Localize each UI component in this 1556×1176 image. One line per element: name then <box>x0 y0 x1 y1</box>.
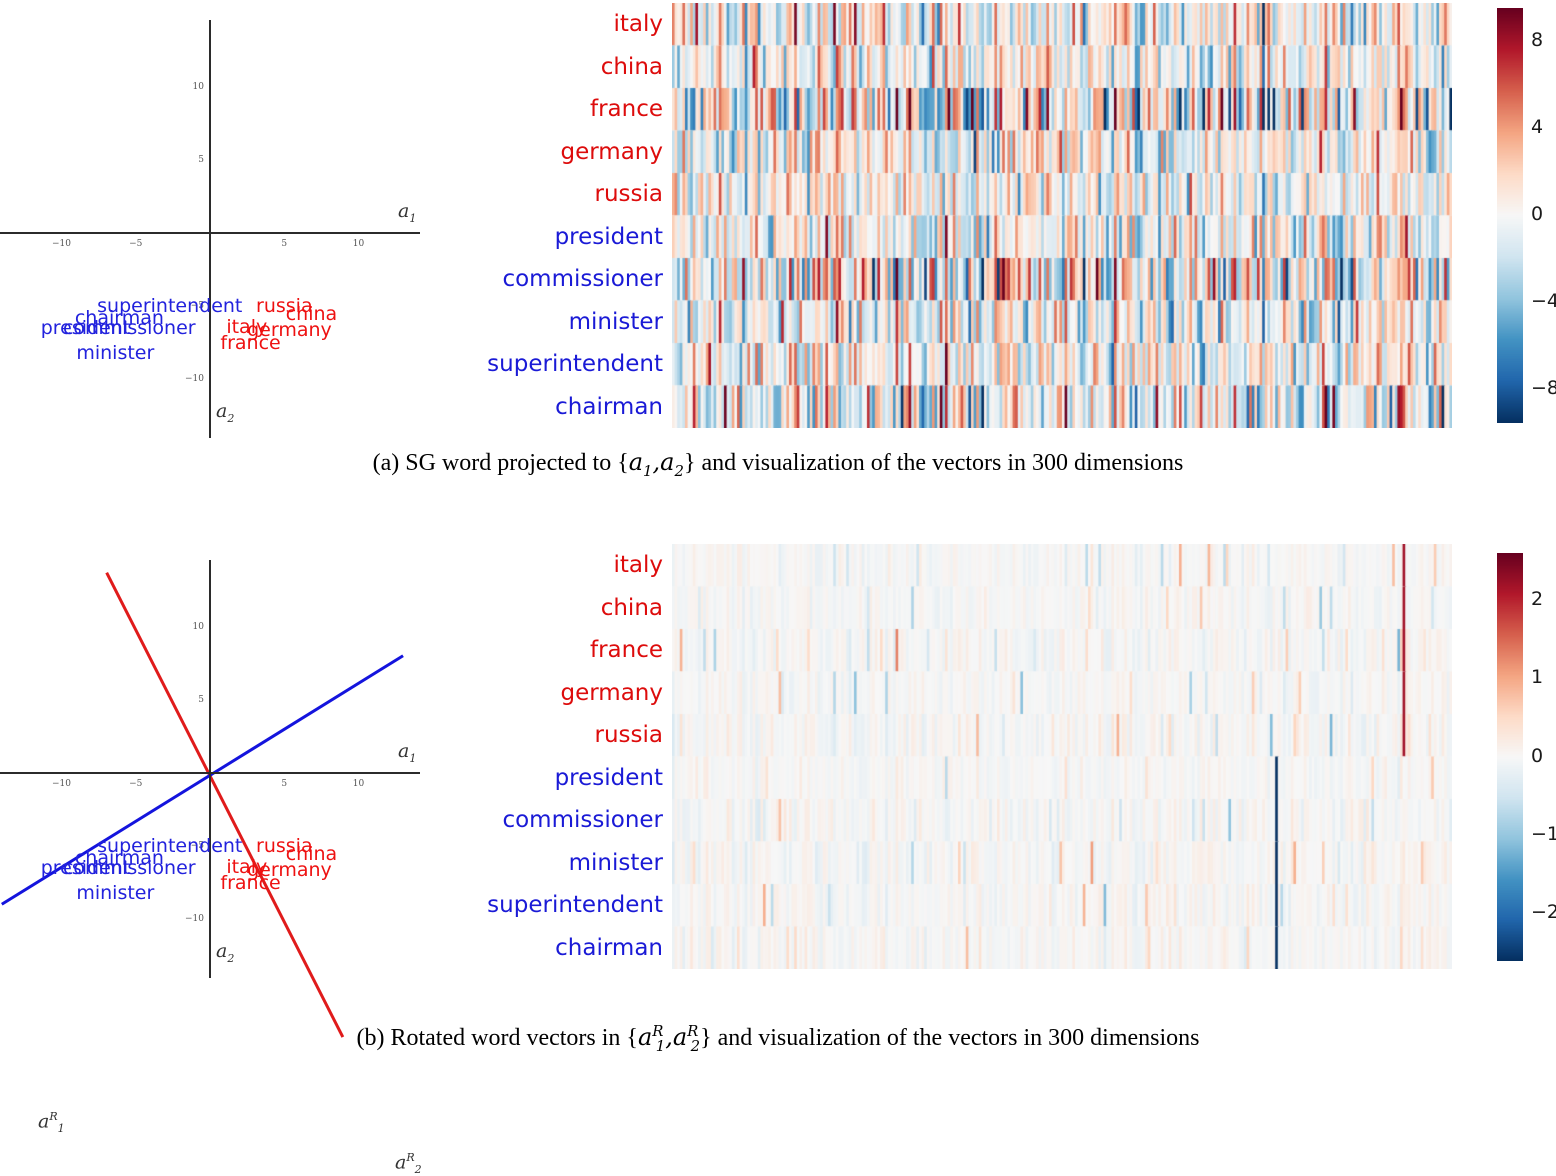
colorbar-tick-neg1: −1 <box>1531 823 1556 845</box>
heatmap-row-label-germany: germany <box>561 682 664 705</box>
caption-b-suffix: } and visualization of the vectors in 30… <box>700 1025 1199 1051</box>
y-tick-5: 5 <box>182 695 204 705</box>
y-tick-10: 10 <box>182 82 204 92</box>
colorbar-b: 210−1−2 <box>1497 553 1556 961</box>
x-tick-10: 10 <box>347 779 371 789</box>
x-axis-label: a1 <box>398 200 416 225</box>
word-label-minister: minister <box>76 884 154 903</box>
y-axis-label: a2 <box>216 940 234 965</box>
heatmap-row-label-commissioner: commissioner <box>502 268 663 291</box>
heatmap-row-label-russia: russia <box>595 183 663 206</box>
heatmap-row-label-chairman: chairman <box>555 937 663 960</box>
colorbar-a: 840−4−8 <box>1497 8 1556 423</box>
colorbar-tick-neg4: −4 <box>1531 290 1556 312</box>
heatmap-row-label-russia: russia <box>595 724 663 747</box>
heatmap-row-label-superintendent: superintendent <box>487 353 663 376</box>
colorbar-tick-0: 0 <box>1531 745 1543 767</box>
y-tick-10: 10 <box>182 622 204 632</box>
rot-axis-2-sub: 2 <box>415 1163 422 1176</box>
x-axis-label-sub: 1 <box>409 752 416 765</box>
scatter-plot-a: a1 a2 −10−5510105−5−10 superintendentrus… <box>0 0 450 440</box>
word-label-commissioner: commissioner <box>63 319 196 338</box>
rot-axis-2-sup: R <box>406 1151 414 1164</box>
heatmap-row-label-commissioner: commissioner <box>502 809 663 832</box>
caption-b-prefix: (b) Rotated word vectors in { <box>356 1025 637 1051</box>
colorbar-tick-0: 0 <box>1531 203 1543 225</box>
y-axis-label-sub: 2 <box>227 412 234 425</box>
rot-axis-1-sup: R <box>49 1110 57 1123</box>
caption-a-prefix: (a) SG word projected to { <box>373 450 629 476</box>
heatmap-a-cells <box>672 3 1452 428</box>
heatmap-row-label-germany: germany <box>561 141 664 164</box>
colorbar-tick-8: 8 <box>1531 29 1543 51</box>
heatmap-row-label-minister: minister <box>569 311 663 334</box>
caption-b: (b) Rotated word vectors in {aR1,aR2} an… <box>0 1022 1556 1055</box>
heatmap-row-label-chairman: chairman <box>555 396 663 419</box>
rot-axis-1-text: a <box>38 1110 49 1132</box>
x-axis-label-text: a <box>398 200 409 222</box>
rot-axis-2-text: a <box>395 1151 406 1173</box>
x-axis-label-sub: 1 <box>409 212 416 225</box>
heatmap-row-label-minister: minister <box>569 852 663 875</box>
word-label-commissioner: commissioner <box>63 859 196 878</box>
caption-a-suffix: } and visualization of the vectors in 30… <box>684 450 1183 476</box>
rotated-axis-label-a1r: aR1 <box>38 1110 65 1135</box>
x-tick-neg5: −5 <box>124 779 148 789</box>
rotated-axis-line-a1r <box>105 572 344 1038</box>
x-tick-neg10: −10 <box>50 239 74 249</box>
y-tick-neg10: −10 <box>182 914 204 924</box>
colorbar-tick-2: 2 <box>1531 588 1543 610</box>
y-axis-label: a2 <box>216 400 234 425</box>
y-tick-5: 5 <box>182 155 204 165</box>
caption-a: (a) SG word projected to {a1,a2} and vis… <box>0 448 1556 480</box>
y-axis-line <box>209 20 211 438</box>
rotated-axis-label-a2r: aR2 <box>395 1151 422 1176</box>
y-tick-neg10: −10 <box>182 374 204 384</box>
colorbar-tick-neg2: −2 <box>1531 901 1556 923</box>
y-axis-line <box>209 560 211 978</box>
heatmap-row-label-italy: italy <box>613 554 663 577</box>
x-tick-5: 5 <box>272 779 296 789</box>
word-label-minister: minister <box>76 344 154 363</box>
figure-panel-b: a1 a2 aR1 aR2 −10−5510105−5−10 superinte… <box>0 540 1556 1074</box>
scatter-plot-b: a1 a2 aR1 aR2 −10−5510105−5−10 superinte… <box>0 540 450 980</box>
colorbar-tick-1: 1 <box>1531 666 1543 688</box>
heatmap-row-label-china: china <box>601 597 663 620</box>
heatmap-row-label-president: president <box>555 767 663 790</box>
y-axis-label-sub: 2 <box>227 952 234 965</box>
heatmap-row-label-italy: italy <box>613 13 663 36</box>
caption-b-axes: aR1,aR2 <box>638 1023 700 1051</box>
rot-axis-1-sub: 1 <box>58 1122 65 1135</box>
colorbar-tick-neg8: −8 <box>1531 377 1556 399</box>
heatmap-row-label-president: president <box>555 226 663 249</box>
x-tick-10: 10 <box>347 239 371 249</box>
heatmap-row-label-superintendent: superintendent <box>487 894 663 917</box>
figure-panel-a: a1 a2 −10−5510105−5−10 superintendentrus… <box>0 0 1556 500</box>
heatmap-row-label-france: france <box>590 98 663 121</box>
heatmap-b-cells <box>672 544 1452 969</box>
x-tick-5: 5 <box>272 239 296 249</box>
x-axis-label: a1 <box>398 740 416 765</box>
word-label-france: france <box>220 874 280 893</box>
heatmap-row-label-france: france <box>590 639 663 662</box>
colorbar-a-gradient <box>1497 8 1523 423</box>
colorbar-tick-4: 4 <box>1531 116 1543 138</box>
word-label-france: france <box>220 334 280 353</box>
heatmap-row-label-china: china <box>601 56 663 79</box>
y-axis-label-text: a <box>216 940 227 962</box>
y-axis-label-text: a <box>216 400 227 422</box>
x-tick-neg5: −5 <box>124 239 148 249</box>
x-tick-neg10: −10 <box>50 779 74 789</box>
x-axis-label-text: a <box>398 740 409 762</box>
caption-a-axes: a1,a2 <box>629 448 684 476</box>
colorbar-b-gradient <box>1497 553 1523 961</box>
